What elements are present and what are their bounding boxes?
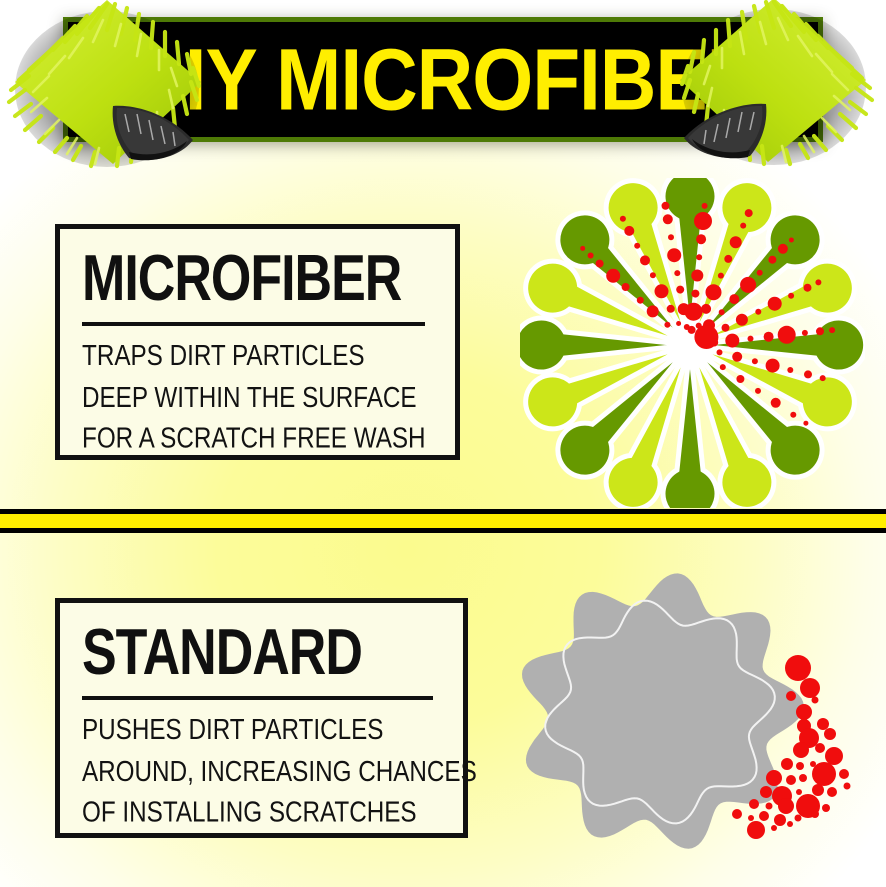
dirt-particle bbox=[752, 358, 758, 364]
dirt-particle bbox=[622, 283, 630, 291]
dirt-particle bbox=[786, 691, 796, 701]
dirt-particle bbox=[701, 304, 711, 314]
dirt-particle bbox=[771, 825, 777, 831]
infographic-canvas: WHY MICROFIBER? bbox=[0, 0, 886, 887]
dirt-particle bbox=[790, 412, 796, 418]
dirt-particle bbox=[667, 248, 681, 262]
dirt-particle bbox=[815, 279, 821, 285]
dirt-particle bbox=[706, 284, 722, 300]
dirt-particle bbox=[736, 375, 744, 383]
dirt-particle bbox=[688, 326, 696, 334]
heading-underline bbox=[82, 696, 433, 700]
dirt-particle bbox=[757, 270, 763, 276]
dirt-particle bbox=[812, 762, 836, 786]
dirt-particle bbox=[824, 728, 836, 740]
dirt-particle bbox=[811, 810, 819, 818]
dirt-particle bbox=[795, 815, 802, 822]
dirt-particle bbox=[804, 284, 812, 292]
standard-line-3: OF INSTALLING SCRATCHES bbox=[82, 793, 434, 834]
dirt-particle bbox=[816, 327, 824, 335]
dirt-particle bbox=[778, 326, 796, 344]
dirt-particle bbox=[748, 336, 754, 342]
dirt-particle bbox=[580, 246, 585, 251]
dirt-particle bbox=[710, 339, 718, 347]
dirt-particle bbox=[740, 223, 746, 229]
dirt-particle bbox=[771, 398, 781, 408]
dirt-particle bbox=[812, 697, 819, 704]
dirt-particle bbox=[691, 270, 703, 282]
dirt-particle bbox=[804, 370, 812, 378]
dirt-particle bbox=[827, 787, 837, 797]
dirt-particle bbox=[822, 804, 830, 812]
dirt-particle bbox=[624, 226, 634, 236]
dirt-particle bbox=[718, 273, 724, 279]
dirt-particle bbox=[815, 743, 825, 753]
dirt-particle bbox=[691, 290, 699, 298]
microfiber-line-3: FOR A SCRATCH FREE WASH bbox=[82, 419, 426, 460]
dirt-particle bbox=[620, 216, 626, 222]
dirt-particle bbox=[696, 254, 702, 260]
microfiber-line-1: TRAPS DIRT PARTICLES bbox=[82, 336, 426, 377]
dirt-particle bbox=[729, 294, 739, 304]
standard-heading: STANDARD bbox=[82, 623, 445, 684]
dirt-particle bbox=[800, 678, 820, 698]
dirt-particle bbox=[676, 286, 684, 294]
dirt-particle bbox=[755, 388, 761, 394]
standard-cloth-blob-icon bbox=[508, 552, 886, 887]
dirt-particle bbox=[774, 814, 786, 826]
dirt-particle bbox=[825, 747, 843, 765]
dirt-particle bbox=[694, 212, 712, 230]
dirt-particle bbox=[662, 202, 670, 210]
dirt-particle bbox=[778, 244, 788, 254]
microfiber-line-2: DEEP WITHIN THE SURFACE bbox=[82, 378, 426, 419]
dirt-particle bbox=[748, 815, 754, 821]
dirt-particle bbox=[696, 234, 706, 244]
microfiber-description: TRAPS DIRT PARTICLES DEEP WITHIN THE SUR… bbox=[82, 336, 426, 460]
dirt-particle bbox=[674, 270, 680, 276]
header-banner: WHY MICROFIBER? bbox=[0, 0, 886, 168]
dirt-particle bbox=[799, 774, 807, 782]
section-divider bbox=[0, 509, 886, 533]
dirt-particle bbox=[766, 803, 773, 810]
standard-line-1: PUSHES DIRT PARTICLES bbox=[82, 710, 434, 751]
dirt-particle bbox=[732, 352, 742, 362]
dirt-particle bbox=[634, 243, 640, 249]
dirt-particle bbox=[730, 236, 742, 248]
dirt-particle bbox=[812, 784, 824, 796]
dirt-particle bbox=[768, 256, 776, 264]
dirt-particle bbox=[786, 775, 796, 785]
standard-line-2: AROUND, INCREASING CHANCES bbox=[82, 752, 434, 793]
dirt-particle bbox=[760, 786, 772, 798]
dirt-particle bbox=[732, 809, 742, 819]
dirt-particle bbox=[596, 260, 604, 268]
standard-description: PUSHES DIRT PARTICLES AROUND, INCREASING… bbox=[82, 710, 434, 834]
dirt-particle bbox=[759, 811, 769, 821]
dirt-particle bbox=[778, 798, 794, 814]
dirt-particle bbox=[768, 297, 782, 311]
dirt-particle bbox=[647, 305, 659, 317]
dirt-particle bbox=[755, 309, 761, 315]
dirt-particle bbox=[637, 297, 644, 304]
dirt-particle bbox=[702, 203, 708, 209]
dirt-particle bbox=[588, 253, 594, 259]
cloth-body bbox=[522, 573, 804, 848]
dirt-particle bbox=[781, 758, 793, 770]
dirt-particle bbox=[764, 332, 774, 342]
dirt-particle bbox=[606, 269, 620, 283]
dirt-particle bbox=[793, 742, 809, 758]
dirt-particle bbox=[785, 655, 811, 681]
dirt-particle bbox=[796, 762, 804, 770]
dirt-particle bbox=[725, 334, 739, 348]
dirt-particle bbox=[844, 783, 851, 790]
dirt-particle bbox=[663, 214, 673, 224]
dirt-particle bbox=[802, 330, 808, 336]
dirt-particle bbox=[789, 238, 794, 243]
dirt-particle bbox=[676, 321, 681, 326]
dirt-particle bbox=[839, 769, 849, 779]
dirt-particle bbox=[717, 349, 723, 355]
dirt-particle bbox=[766, 770, 782, 786]
dirt-particle bbox=[745, 209, 753, 217]
microfiber-flower-icon bbox=[520, 178, 865, 508]
dirt-particle bbox=[766, 359, 780, 373]
heading-underline bbox=[82, 322, 425, 326]
microfiber-info-card: MICROFIBER TRAPS DIRT PARTICLES DEEP WIT… bbox=[55, 224, 460, 460]
page-title: WHY MICROFIBER? bbox=[40, 6, 846, 154]
dirt-particle bbox=[650, 272, 656, 278]
microfiber-heading: MICROFIBER bbox=[82, 249, 437, 310]
dirt-particle bbox=[803, 421, 808, 426]
dirt-particle bbox=[720, 364, 726, 370]
standard-info-card: STANDARD PUSHES DIRT PARTICLES AROUND, I… bbox=[55, 598, 468, 838]
dirt-particle bbox=[736, 314, 748, 326]
dirt-particle bbox=[817, 718, 829, 730]
dirt-particle bbox=[829, 327, 835, 333]
dirt-particle bbox=[719, 309, 725, 315]
dirt-particle bbox=[787, 367, 793, 373]
dirt-particle bbox=[664, 322, 670, 328]
dirt-particle bbox=[820, 375, 826, 381]
dirt-particle bbox=[787, 821, 793, 827]
dirt-particle bbox=[722, 324, 730, 332]
dirt-particle bbox=[796, 789, 802, 795]
dirt-particle bbox=[747, 821, 765, 839]
dirt-particle bbox=[788, 293, 794, 299]
dirt-particle bbox=[640, 255, 650, 265]
dirt-particle bbox=[740, 277, 756, 293]
dirt-particle bbox=[668, 234, 674, 240]
dirt-particle bbox=[796, 704, 812, 720]
dirt-particle bbox=[667, 305, 675, 313]
dirt-particle bbox=[655, 284, 669, 298]
dirt-particle bbox=[749, 799, 759, 809]
dirt-particle bbox=[685, 303, 703, 321]
dirt-particle bbox=[724, 255, 732, 263]
